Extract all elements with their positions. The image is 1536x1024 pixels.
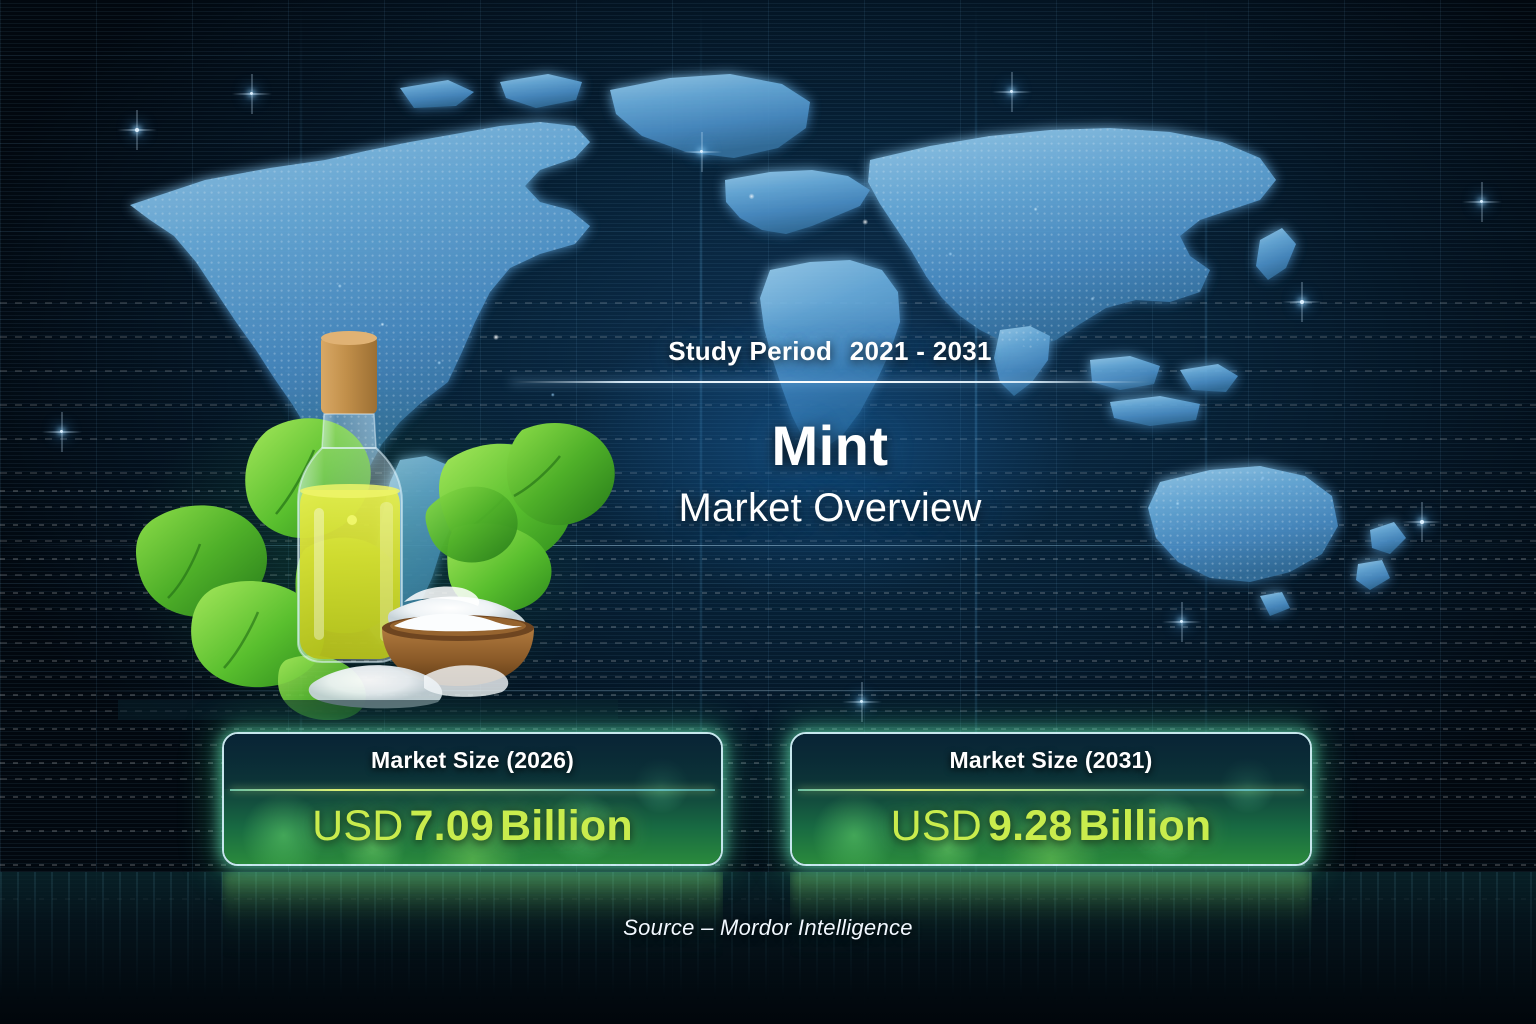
headline-block: Study Period 2021 - 2031 Mint Market Ove… <box>470 336 1190 531</box>
floor-streaks <box>0 872 1536 1024</box>
star-sparkle <box>1420 520 1424 524</box>
card-currency: USD <box>891 802 982 850</box>
floor-reflection <box>0 872 1536 1024</box>
card-value: USD7.09Billion <box>224 802 721 851</box>
stat-card-market-size-2026[interactable]: Market Size (2026) USD7.09Billion <box>222 732 723 866</box>
card-divider-rule <box>230 789 715 791</box>
star-sparkle <box>1480 200 1483 203</box>
oil-bottle <box>298 331 402 662</box>
stat-card-market-size-2031[interactable]: Market Size (2031) USD9.28Billion <box>790 732 1312 866</box>
star-sparkle <box>1300 300 1304 304</box>
star-sparkle <box>135 128 139 132</box>
card-divider-rule <box>798 789 1304 791</box>
study-period: Study Period 2021 - 2031 <box>470 336 1190 367</box>
star-sparkle <box>1180 620 1183 623</box>
card-label: Market Size (2031) <box>792 747 1310 774</box>
card-label: Market Size (2026) <box>224 747 721 774</box>
infographic-canvas: Study Period 2021 - 2031 Mint Market Ove… <box>0 0 1536 1024</box>
page-title: Mint <box>470 413 1190 478</box>
star-sparkle <box>1010 90 1013 93</box>
card-unit: Billion <box>1079 802 1212 850</box>
star-sparkle <box>860 700 863 703</box>
title-divider <box>510 381 1150 383</box>
star-sparkle <box>60 430 63 433</box>
study-period-label: Study Period <box>668 336 832 366</box>
card-value: USD9.28Billion <box>792 802 1310 851</box>
page-subtitle: Market Overview <box>470 486 1190 531</box>
card-number: 9.28 <box>988 802 1073 850</box>
source-attribution: Source – Mordor Intelligence <box>0 915 1536 941</box>
card-currency: USD <box>312 802 403 850</box>
star-sparkle <box>250 92 253 95</box>
study-period-range: 2021 - 2031 <box>850 336 992 366</box>
card-unit: Billion <box>500 802 633 850</box>
vertical-beam-4 <box>1205 0 1207 1024</box>
star-sparkle <box>700 150 703 153</box>
card-number: 7.09 <box>410 802 495 850</box>
